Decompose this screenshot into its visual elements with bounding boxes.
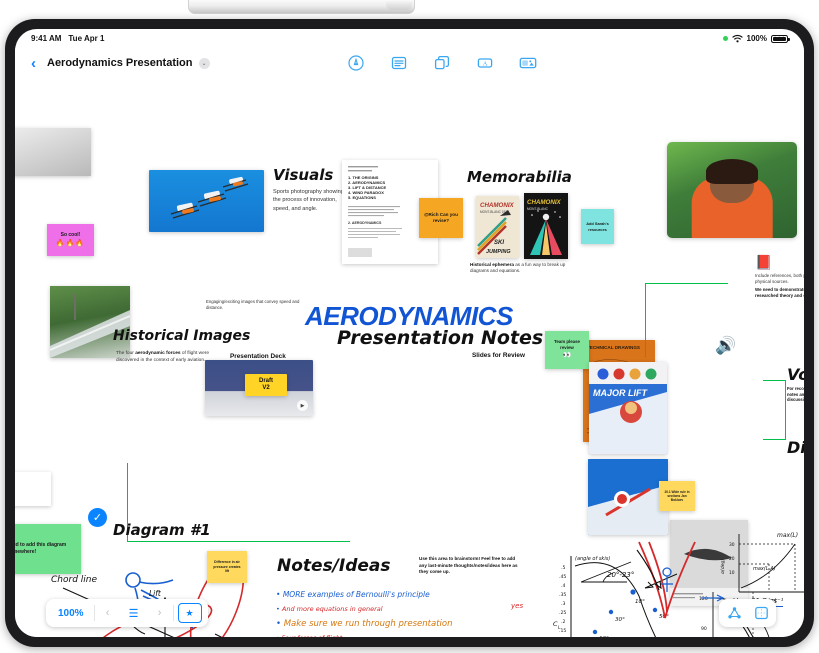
svg-text:CHAMONIX: CHAMONIX: [480, 202, 515, 209]
svg-text:.2: .2: [561, 619, 565, 625]
svg-text:α(deg): α(deg): [720, 559, 726, 574]
text-box-icon[interactable]: A: [474, 52, 495, 73]
zoom-toolbar: 100% ‹ ☰ › ★: [46, 599, 208, 627]
prev-page-button[interactable]: ‹: [95, 600, 121, 626]
svg-text:CHAMONIX: CHAMONIX: [527, 199, 562, 206]
video-caption: Engaging/exciting images that convey spe…: [206, 299, 311, 311]
connector-green-top-right: [645, 283, 728, 358]
svg-text:max(L): max(L): [777, 532, 798, 539]
page-list-icon[interactable]: ☰: [121, 600, 147, 626]
svg-text:max(L,A): max(L,A): [753, 566, 776, 572]
freeform-canvas[interactable]: So cool! 🔥🔥🔥 Visuals: [15, 78, 804, 637]
ipad-device: 9:41 AM Tue Apr 1 100% ••• ‹: [5, 19, 814, 647]
svg-text:2. AERODYNAMICS: 2. AERODYNAMICS: [348, 221, 382, 225]
svg-text:(angle of skis): (angle of skis): [575, 556, 610, 562]
svg-text:.35: .35: [559, 592, 566, 598]
svg-text:20: 20: [729, 556, 735, 562]
sticky-note-icon[interactable]: [388, 52, 409, 73]
svg-text:120: 120: [699, 596, 708, 602]
visuals-block: Visuals Sports photography showing the p…: [273, 166, 351, 213]
play-icon[interactable]: ▶: [297, 400, 308, 411]
approved-check-badge[interactable]: ✓: [88, 508, 107, 527]
facetime-participant-tile[interactable]: [667, 142, 797, 238]
major-lift-title: MAJOR LIFT: [593, 388, 648, 398]
presentation-deck-label: Presentation Deck: [230, 353, 286, 360]
voice-heading: Vo: [787, 365, 804, 384]
visuals-heading: Visuals: [273, 166, 351, 184]
svg-text:A: A: [482, 60, 487, 67]
battery-icon: [771, 35, 788, 43]
voice-note-text: For recorded lecture notes and group dis…: [787, 386, 804, 403]
references-line2: We need to demonstrate how we researched…: [755, 287, 804, 299]
major-lift-card[interactable]: MAJOR LIFT: [589, 362, 667, 454]
poster-chamonix-2[interactable]: CHAMONIX MONT-BLANC: [524, 193, 568, 259]
svg-text:.45: .45: [559, 574, 566, 580]
grid-select-icon[interactable]: [749, 602, 773, 624]
memorabilia-caption-bold: Historical ephemera: [470, 262, 514, 267]
diagrams-heading: Di: [787, 438, 804, 457]
document-title: Aerodynamics Presentation: [47, 57, 193, 69]
status-bar: 9:41 AM Tue Apr 1 100%: [15, 29, 804, 48]
svg-text:10: 10: [729, 570, 735, 576]
photo-cropped-left[interactable]: [15, 128, 91, 176]
handwritten-notes-list: • MORE examples of Bernoulli's principle…: [276, 590, 516, 637]
svg-text:.3: .3: [561, 601, 565, 607]
svg-text:JUMPING: JUMPING: [486, 249, 511, 255]
ipad-screen: 9:41 AM Tue Apr 1 100% ••• ‹: [15, 29, 804, 637]
svg-text:.4: .4: [561, 583, 565, 589]
memorabilia-heading: Memorabilia: [467, 168, 572, 186]
status-time: 9:41 AM: [31, 34, 61, 43]
athlete-photo-card[interactable]: [588, 459, 668, 535]
sticky-text: @Rich Can you revise?: [423, 212, 459, 224]
draft-badge[interactable]: DraftV2: [245, 374, 287, 396]
svg-text:90: 90: [701, 626, 707, 632]
handwritten-note-item: • Four forces of flight: [276, 635, 516, 637]
sticky-note-slide-check[interactable]: [15, 472, 51, 506]
svg-text:10°: 10°: [599, 636, 609, 637]
book-emoji-icon: 📕: [755, 254, 804, 271]
diagram-heading: Diagram #1: [113, 521, 211, 539]
shapes-icon[interactable]: [431, 52, 452, 73]
zoom-level[interactable]: 100%: [48, 608, 94, 619]
connector-green-audio: [763, 380, 786, 440]
media-icon[interactable]: [517, 52, 538, 73]
historical-heading: Historical Images: [113, 328, 250, 344]
sticky-note-add-sarah[interactable]: Add Sarah's resources: [581, 209, 614, 244]
slides-for-review-label: Slides for Review: [472, 352, 525, 359]
canvas-tools-toolbar: [719, 599, 776, 627]
favorite-star-button[interactable]: ★: [178, 603, 202, 623]
status-date: Tue Apr 1: [68, 34, 104, 43]
svg-text:.25: .25: [559, 610, 566, 616]
sticky-note-athlete[interactable]: 20.1 Wide rule in sections Jan Bokloev: [659, 481, 695, 511]
notes-ideas-heading: Notes/Ideas: [277, 556, 391, 576]
sticky-text: Team please review: [549, 339, 585, 351]
screenshot-root: 9:41 AM Tue Apr 1 100% ••• ‹: [0, 0, 819, 653]
markup-pen-icon[interactable]: [345, 52, 366, 73]
node-connect-icon[interactable]: [722, 602, 746, 624]
toolbar-icon-group: A: [345, 52, 538, 73]
recording-indicator-dot: [723, 36, 728, 41]
wifi-icon: [732, 34, 743, 43]
sticky-text: 20.1 Wide rule in sections Jan Bokloev: [663, 490, 691, 503]
svg-text:30: 30: [729, 542, 735, 548]
canvas-title-sub: Presentation Notes: [337, 327, 543, 349]
battery-percent: 100%: [747, 34, 767, 43]
references-note: 📕 Include references, both print and phy…: [755, 254, 804, 299]
memorabilia-caption: Historical ephemera as a fun way to brea…: [470, 262, 580, 275]
svg-text:Chord line: Chord line: [51, 575, 97, 585]
sticky-note-so-cool[interactable]: So cool! 🔥🔥🔥: [47, 224, 94, 256]
draft-label: DraftV2: [259, 378, 273, 391]
handwritten-note-item: • And more equations in general: [276, 605, 516, 613]
svg-text:SKI: SKI: [494, 240, 504, 246]
photo-ski-jumpers[interactable]: [149, 170, 264, 232]
references-line1: Include references, both print and physi…: [755, 273, 804, 285]
chevron-down-icon[interactable]: ⌄: [199, 58, 210, 69]
divider: [173, 605, 174, 621]
photo-ski-hill[interactable]: [50, 286, 130, 358]
handwritten-note-item: • MORE examples of Bernoulli's principle: [276, 590, 516, 599]
eyes-emoji: 👀: [563, 351, 572, 360]
historical-body: The four aerodynamic forces of flight we…: [116, 351, 212, 365]
handwritten-yes: yes: [511, 602, 523, 610]
sticky-note-rich-revise[interactable]: @Rich Can you revise?: [419, 198, 463, 238]
svg-text:20°-23°: 20°-23°: [607, 571, 634, 579]
apple-pencil: [188, 0, 415, 14]
sticky-note-pressure[interactable]: Difference in air pressure creates lift: [207, 551, 247, 583]
svg-text:TECHNICAL DRAWINGS: TECHNICAL DRAWINGS: [587, 345, 640, 350]
svg-text:Lift: Lift: [149, 589, 162, 598]
visuals-body: Sports photography showing the process o…: [273, 188, 351, 213]
brainstorm-note: Use this area to brainstorm! Feel free t…: [419, 556, 523, 576]
handwritten-note-item: • Make sure we run through presentation: [276, 619, 516, 629]
svg-text:30°: 30°: [615, 617, 625, 623]
sticky-note-team-review[interactable]: Team please review 👀: [545, 331, 589, 369]
sticky-text: So cool!: [61, 232, 81, 239]
svg-text:5. EQUATIONS: 5. EQUATIONS: [348, 195, 376, 200]
fire-emoji: 🔥🔥🔥: [56, 239, 85, 248]
facetime-person-hair: [706, 159, 758, 184]
poster-chamonix-1[interactable]: CHAMONIX MONT-BLANC 1924 SKI JUMPING: [476, 196, 519, 258]
back-button[interactable]: ‹: [31, 56, 36, 71]
app-toolbar: ‹ Aerodynamics Presentation ⌄ A: [15, 48, 804, 78]
next-page-button[interactable]: ›: [147, 600, 173, 626]
hist-pre: The four: [116, 351, 135, 356]
svg-text:.5: .5: [561, 565, 565, 571]
sticky-text: Difference in air pressure creates lift: [211, 560, 243, 574]
sticky-text: Add Sarah's resources: [585, 221, 610, 232]
hist-bold: aerodynamic forces: [135, 351, 180, 356]
